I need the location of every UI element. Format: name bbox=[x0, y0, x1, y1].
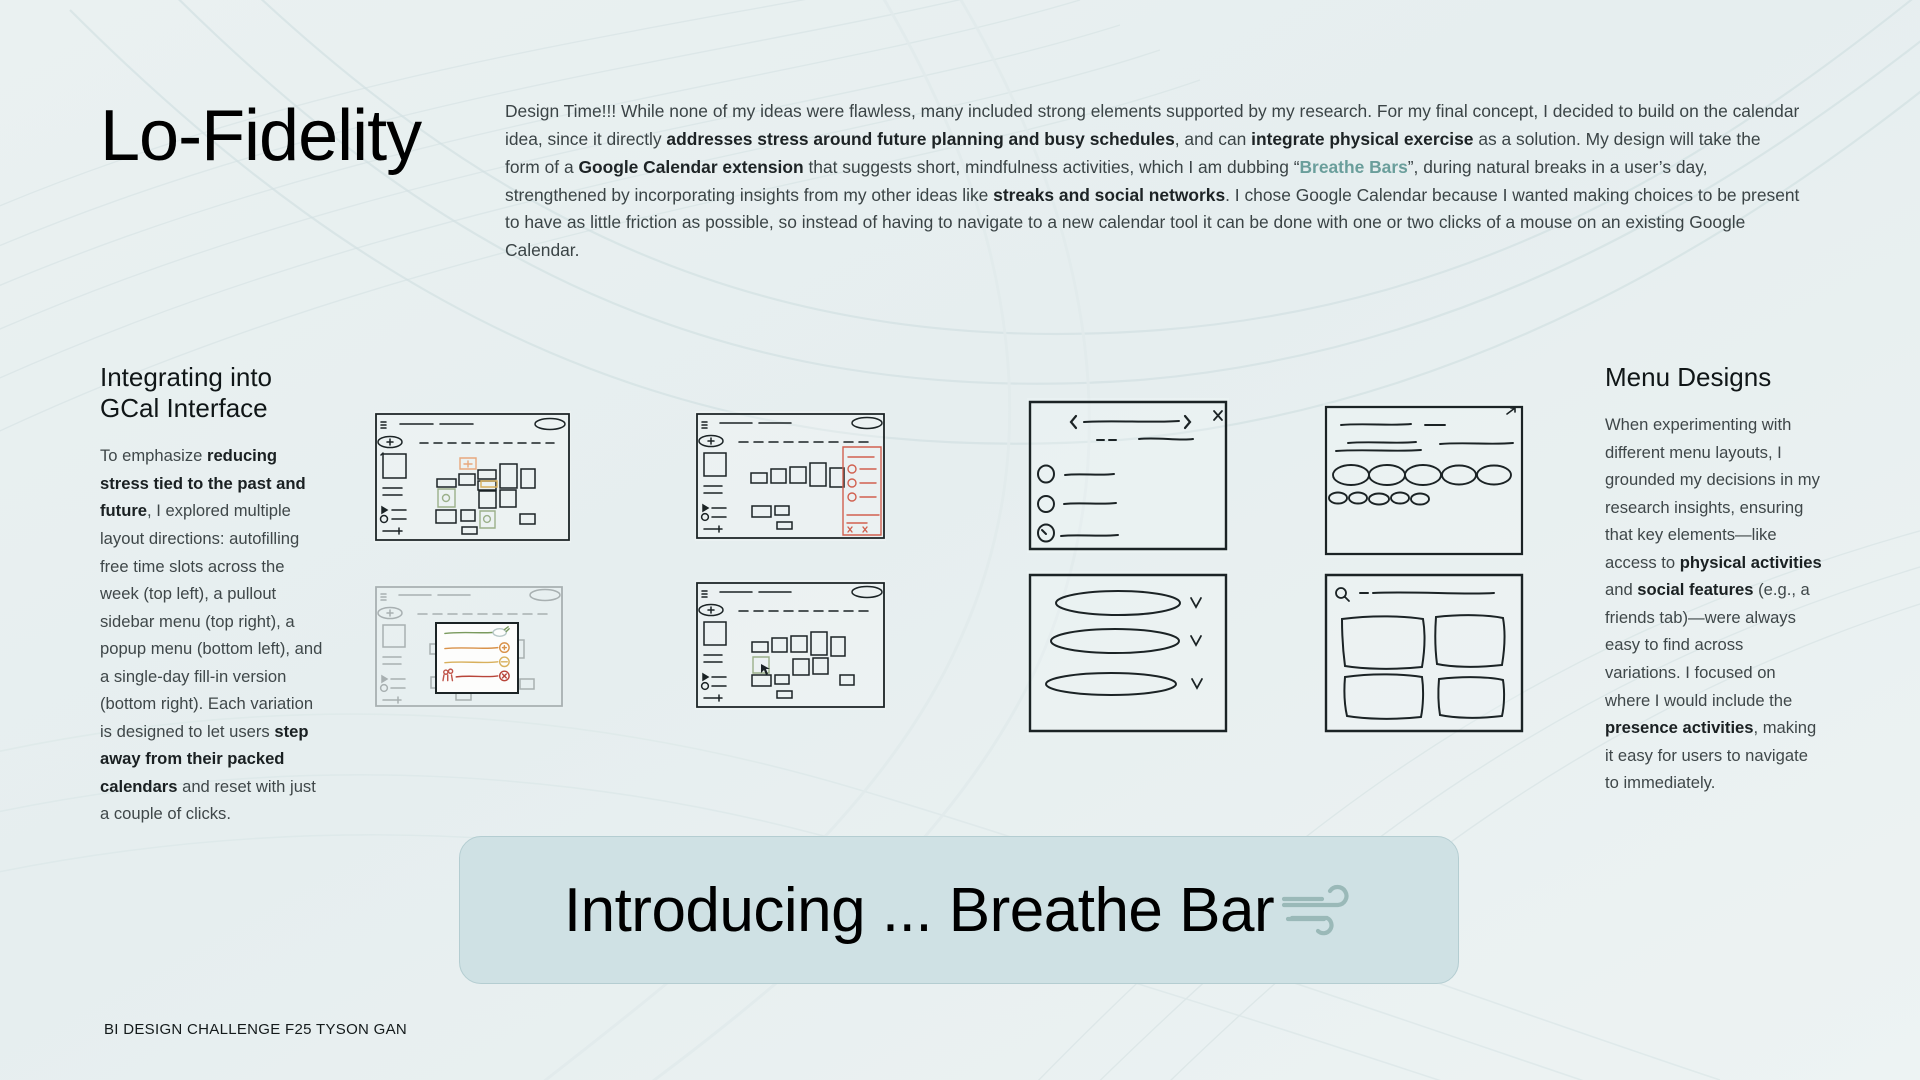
introducing-breathe-bar-banner: Introducing ... Breathe Bar bbox=[459, 836, 1459, 984]
right-text-3: (e.g., a friends tab)—were always easy t… bbox=[1605, 580, 1810, 709]
banner-title: Introducing ... Breathe Bar bbox=[564, 875, 1274, 946]
menu-card-grid-search-sketch bbox=[1323, 571, 1525, 735]
intro-highlight-breathe-bars: Breathe Bars bbox=[1300, 157, 1408, 177]
intro-text-4: that suggests short, mindfulness activit… bbox=[804, 157, 1300, 177]
intro-bold-3: Google Calendar extension bbox=[578, 157, 803, 177]
right-bold-2: social features bbox=[1637, 580, 1753, 599]
calendar-single-day-fill-sketch bbox=[695, 580, 886, 710]
menu-chips-grid-sketch bbox=[1323, 403, 1525, 558]
calendar-pullout-sidebar-sketch bbox=[695, 411, 886, 541]
left-column-body: To emphasize reducing stress tied to the… bbox=[100, 442, 325, 827]
chevron-right-icon bbox=[1185, 416, 1190, 428]
left-column: Integrating into GCal Interface To empha… bbox=[100, 362, 325, 828]
wind-icon bbox=[1278, 879, 1354, 941]
sketch-drawing bbox=[1027, 571, 1229, 735]
intro-text-2: , and can bbox=[1175, 129, 1251, 149]
chevron-left-icon bbox=[1071, 416, 1076, 428]
page-title: Lo-Fidelity bbox=[100, 95, 421, 177]
intro-bold-2: integrate physical exercise bbox=[1251, 129, 1473, 149]
left-column-heading: Integrating into GCal Interface bbox=[100, 362, 325, 424]
sketch-drawing bbox=[1323, 403, 1525, 558]
sketch-drawing bbox=[695, 580, 886, 710]
intro-bold-1: addresses stress around future planning … bbox=[666, 129, 1174, 149]
left-text-2: , I explored multiple layout directions:… bbox=[100, 501, 322, 740]
sketch-drawing bbox=[695, 411, 886, 541]
sketch-drawing bbox=[1027, 398, 1229, 553]
expand-icon bbox=[1507, 408, 1515, 414]
intro-paragraph: Design Time!!! While none of my ideas we… bbox=[505, 98, 1800, 265]
right-column: Menu Designs When experimenting with dif… bbox=[1605, 362, 1823, 797]
sketch-drawing bbox=[1323, 571, 1525, 735]
right-column-heading: Menu Designs bbox=[1605, 362, 1823, 393]
right-bold-1: physical activities bbox=[1680, 553, 1822, 572]
popup-menu-drawing bbox=[437, 624, 517, 692]
right-text-1: When experimenting with different menu l… bbox=[1605, 415, 1820, 572]
chevron-down-icon bbox=[1191, 636, 1201, 645]
chevron-down-icon bbox=[1192, 679, 1202, 688]
right-bold-3: presence activities bbox=[1605, 718, 1754, 737]
right-column-body: When experimenting with different menu l… bbox=[1605, 411, 1823, 796]
calendar-popup-menu-overlay bbox=[435, 622, 519, 694]
chevron-down-icon bbox=[1191, 598, 1201, 607]
close-icon bbox=[1214, 411, 1222, 420]
right-text-2: and bbox=[1605, 580, 1637, 599]
footer-credit: BI DESIGN CHALLENGE F25 TYSON GAN bbox=[104, 1021, 407, 1038]
sketch-drawing bbox=[374, 411, 571, 543]
calendar-autofill-week-sketch bbox=[374, 411, 571, 543]
menu-pill-rows-sketch bbox=[1027, 571, 1229, 735]
intro-bold-4: streaks and social networks bbox=[993, 185, 1225, 205]
left-text-1: To emphasize bbox=[100, 446, 207, 465]
menu-list-nav-sketch bbox=[1027, 398, 1229, 553]
